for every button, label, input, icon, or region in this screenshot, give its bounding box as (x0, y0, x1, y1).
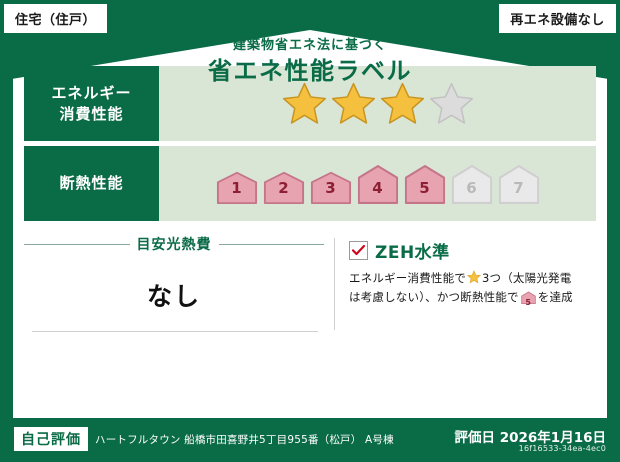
insulation-level-number: 7 (497, 179, 541, 197)
check-icon (352, 245, 365, 256)
insulation-level-number: 4 (356, 179, 400, 197)
utility-cost-heading-text: 目安光熱費 (137, 234, 212, 254)
insulation-level-icon-number: 5 (521, 296, 536, 309)
row-insulation-label-line1: 断熱性能 (59, 173, 123, 193)
property-address: ハートフルタウン 船橋市田喜野井5丁目955番（松戸） A号棟 (95, 432, 394, 447)
zeh-desc-part2: 3つ（太陽光発電 (482, 271, 571, 285)
utility-cost-value: なし (24, 277, 324, 313)
zeh-desc-part3: は考慮しない）、かつ断熱性能で (349, 290, 519, 304)
insulation-level-number: 3 (309, 179, 353, 197)
insulation-level-number: 1 (215, 179, 259, 197)
badge-renewable-energy: 再エネ設備なし (499, 4, 616, 33)
zeh-desc-part4: を達成 (538, 290, 573, 304)
star-rating (281, 81, 475, 126)
evaluation-type-badge: 自己評価 (14, 427, 88, 451)
insulation-level-1: 1 (215, 171, 259, 204)
row-energy-label-line2: 消費性能 (59, 104, 123, 124)
row-insulation-label: 断熱性能 (24, 146, 159, 221)
star-icon-empty (428, 81, 475, 126)
rating-rows: エネルギー 消費性能 断熱性能 1234567 (24, 66, 596, 226)
zeh-desc-part1: エネルギー消費性能で (349, 271, 466, 285)
label-code: 16f16533-34ea-4ec0 (519, 444, 606, 453)
insulation-level-number: 6 (450, 179, 494, 197)
zeh-checkbox (349, 241, 368, 260)
insulation-level-number: 2 (262, 179, 306, 197)
evaluation-date: 評価日 2026年1月16日 (455, 426, 606, 446)
label-footer: 自己評価 ハートフルタウン 船橋市田喜野井5丁目955番（松戸） A号棟 評価日… (0, 418, 620, 462)
star-icon-filled (379, 81, 426, 126)
star-icon-inline (467, 270, 481, 284)
insulation-level-6: 6 (450, 164, 494, 204)
badge-building-type: 住宅（住戸） (4, 4, 107, 33)
utility-cost-heading: 目安光熱費 (24, 234, 324, 254)
zeh-section: ZEH水準 エネルギー消費性能で3つ（太陽光発電は考慮しない）、かつ断熱性能で5… (349, 234, 596, 334)
star-icon-filled (330, 81, 377, 126)
insulation-level-2: 2 (262, 171, 306, 204)
row-insulation-value: 1234567 (159, 146, 596, 221)
title-main: 省エネ性能ラベル (13, 56, 607, 86)
energy-performance-label: 住宅（住戸） 再エネ設備なし 建築物省エネ法に基づく 省エネ性能ラベル エネルギ… (0, 0, 620, 462)
insulation-level-icon-inline: 5 (521, 291, 536, 310)
utility-cost-bottom-rule (32, 331, 318, 332)
insulation-level-scale: 1234567 (215, 164, 541, 204)
insulation-level-7: 7 (497, 164, 541, 204)
insulation-level-4: 4 (356, 164, 400, 204)
bottom-columns: 目安光熱費 なし ZEH水準 エネルギー消費性能で3つ（太陽 (24, 234, 596, 334)
insulation-level-number: 5 (403, 179, 447, 197)
zeh-description: エネルギー消費性能で3つ（太陽光発電は考慮しない）、かつ断熱性能で5を達成 (349, 269, 596, 310)
evaluation-date-label: 評価日 (455, 430, 496, 446)
heading-rule-left (24, 244, 130, 245)
column-divider (334, 238, 335, 330)
row-energy-label-line1: エネルギー (51, 83, 131, 103)
row-insulation: 断熱性能 1234567 (24, 146, 596, 221)
label-house-frame: 建築物省エネ法に基づく 省エネ性能ラベル エネルギー 消費性能 断熱性能 123… (13, 30, 607, 418)
zeh-title: ZEH水準 (375, 238, 450, 263)
label-title: 建築物省エネ法に基づく 省エネ性能ラベル (13, 38, 607, 86)
title-subtitle: 建築物省エネ法に基づく (13, 38, 607, 54)
insulation-level-5: 5 (403, 164, 447, 204)
zeh-heading: ZEH水準 (349, 238, 596, 263)
insulation-level-3: 3 (309, 171, 353, 204)
heading-rule-right (219, 244, 325, 245)
utility-cost-section: 目安光熱費 なし (24, 234, 324, 334)
star-icon-filled (281, 81, 328, 126)
